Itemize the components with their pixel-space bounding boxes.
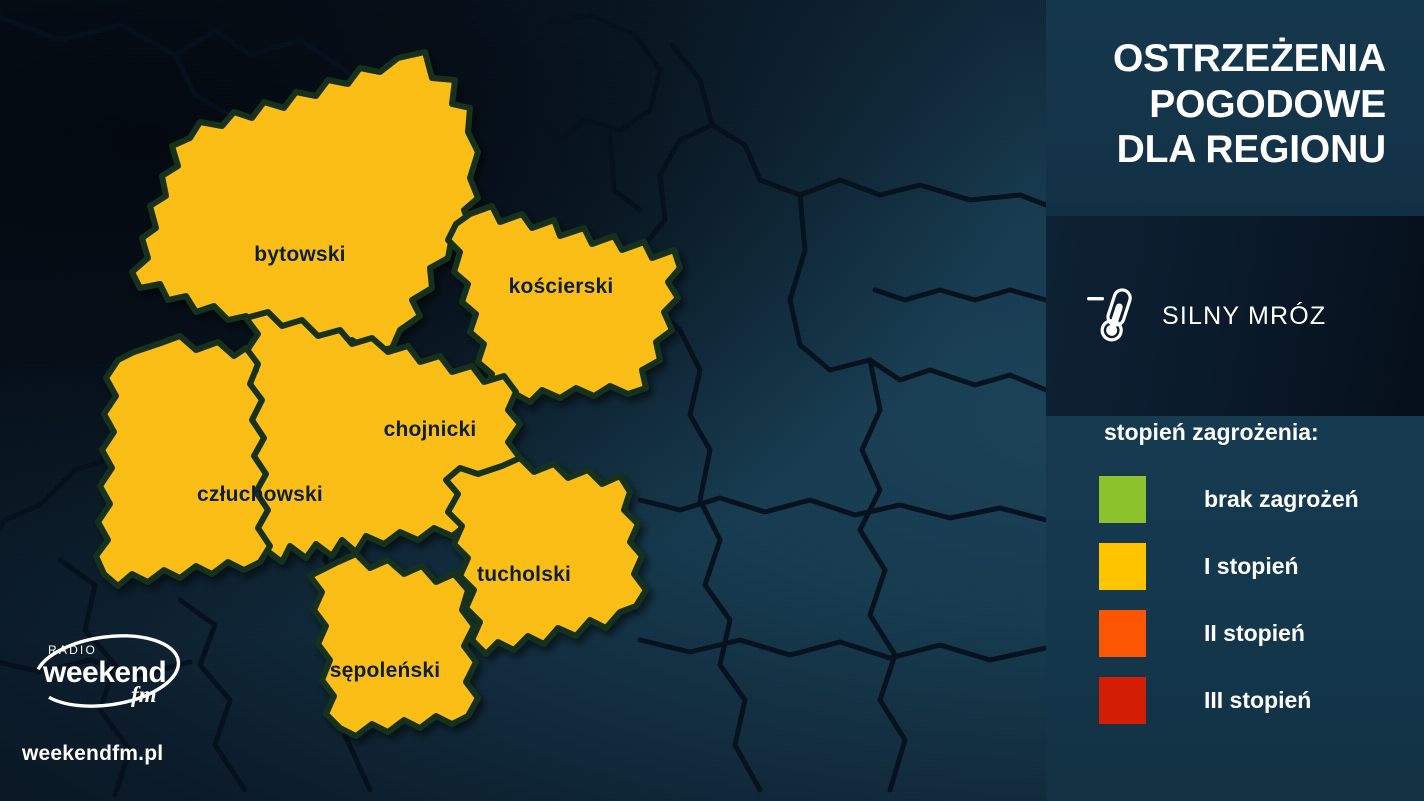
county-label-czluchowski: człuchowski	[197, 483, 323, 507]
county-label-chojnicki: chojnicki	[384, 418, 477, 442]
county-shape-bytowski	[132, 52, 478, 352]
logo-radio-text: RADIO	[48, 643, 97, 657]
warning-type-label: SILNY MRÓZ	[1162, 302, 1326, 331]
legend-label-stopien-1: I stopień	[1204, 553, 1299, 580]
legend-item-stopien-3: III stopień	[1099, 677, 1359, 724]
legend-label-stopien-3: III stopień	[1204, 687, 1311, 714]
legend-swatch-green	[1099, 476, 1146, 523]
legend-label-stopien-2: II stopień	[1204, 620, 1305, 647]
county-shape-czluchowski	[96, 336, 270, 586]
county-label-bytowski: bytowski	[254, 243, 345, 267]
legend-swatch-orange	[1099, 610, 1146, 657]
county-label-koscierski: kościerski	[509, 275, 614, 299]
legend-title: stopień zagrożenia:	[1104, 419, 1319, 446]
legend-swatch-yellow	[1099, 543, 1146, 590]
county-shape-koscierski	[448, 206, 680, 404]
legend-label-brak-zagrozen: brak zagrożeń	[1204, 486, 1359, 513]
county-label-sepolenski: sępoleński	[330, 659, 441, 683]
radio-weekend-fm-logo: RADIO weekend fm	[18, 625, 196, 717]
legend-list: brak zagrożeń I stopień II stopień III s…	[1099, 476, 1359, 744]
legend-swatch-red	[1099, 677, 1146, 724]
legend-item-brak-zagrozen: brak zagrożeń	[1099, 476, 1359, 523]
website-url: weekendfm.pl	[22, 742, 163, 766]
page-title-line-1: OSTRZEŻENIA	[1056, 36, 1386, 82]
weather-warning-graphic: bytowski kościerski chojnicki człuchowsk…	[0, 0, 1424, 801]
page-title: OSTRZEŻENIA POGODOWE DLA REGIONU	[1056, 36, 1386, 173]
county-label-tucholski: tucholski	[477, 563, 571, 587]
legend-item-stopien-2: II stopień	[1099, 610, 1359, 657]
page-title-line-2: POGODOWE	[1056, 82, 1386, 128]
warning-type-row: SILNY MRÓZ	[1086, 283, 1326, 350]
page-title-line-3: DLA REGIONU	[1056, 127, 1386, 173]
county-shape-sepolenski	[310, 554, 478, 736]
logo-fm-text: fm	[131, 682, 157, 707]
legend-item-stopien-1: I stopień	[1099, 543, 1359, 590]
thermometer-cold-icon	[1086, 283, 1140, 350]
